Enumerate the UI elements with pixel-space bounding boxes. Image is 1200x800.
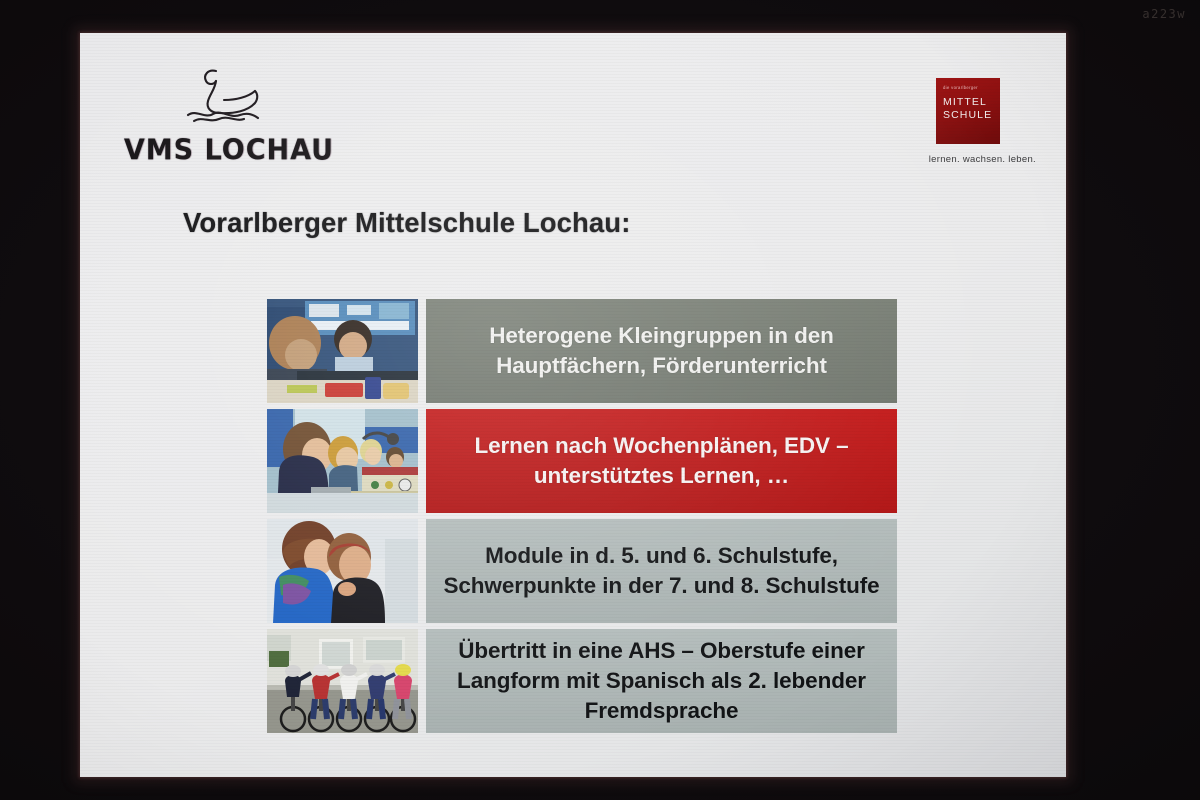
content-row-text: Lernen nach Wochenplänen, EDV – unterstü… — [438, 431, 885, 491]
content-row-text: Module in d. 5. und 6. Schulstufe, Schwe… — [438, 541, 885, 601]
unicycle-children-photo — [267, 629, 418, 733]
science-lab-pupils-photo — [267, 409, 418, 513]
camera-watermark: a223w — [1142, 7, 1186, 21]
mittelschule-tagline: lernen. wachsen. leben. — [900, 154, 1036, 165]
vms-lochau-wordmark: VMS LOCHAU — [114, 134, 344, 167]
content-row: Heterogene Kleingruppen in den Hauptfäch… — [267, 299, 897, 403]
mittelschule-red-box: die vorarlberger MITTEL SCHULE — [936, 78, 1000, 144]
slide-title: Vorarlberger Mittelschule Lochau: — [183, 207, 630, 239]
content-row: Module in d. 5. und 6. Schulstufe, Schwe… — [267, 519, 897, 623]
content-row: Lernen nach Wochenplänen, EDV – unterstü… — [267, 409, 897, 513]
photo-of-projection-screen: a223w VMS LOCHAU — [0, 0, 1200, 800]
presentation-slide: VMS LOCHAU die vorarlberger MITTEL SCHUL… — [80, 33, 1066, 777]
content-row-text-box: Heterogene Kleingruppen in den Hauptfäch… — [426, 299, 897, 403]
content-row-text-box: Module in d. 5. und 6. Schulstufe, Schwe… — [426, 519, 897, 623]
mittelschule-logo: die vorarlberger MITTEL SCHULE lernen. w… — [900, 78, 1036, 196]
classroom-pupils-photo — [267, 299, 418, 403]
content-row-text: Heterogene Kleingruppen in den Hauptfäch… — [438, 321, 885, 381]
content-row-text-box: Übertritt in eine AHS – Oberstufe einer … — [426, 629, 897, 733]
content-row-text-box: Lernen nach Wochenplänen, EDV – unterstü… — [426, 409, 897, 513]
mittelschule-name-line-2: SCHULE — [943, 109, 1000, 122]
mittelschule-micro-line: die vorarlberger — [943, 85, 1000, 91]
content-row: Übertritt in eine AHS – Oberstufe einer … — [267, 629, 897, 733]
vms-lochau-logo: VMS LOCHAU — [114, 61, 344, 181]
swan-icon — [172, 61, 282, 129]
content-row-list: Heterogene Kleingruppen in den Hauptfäch… — [267, 299, 897, 739]
mittelschule-name-line-1: MITTEL — [943, 96, 1000, 109]
two-teachers-photo — [267, 519, 418, 623]
content-row-text: Übertritt in eine AHS – Oberstufe einer … — [438, 636, 885, 726]
